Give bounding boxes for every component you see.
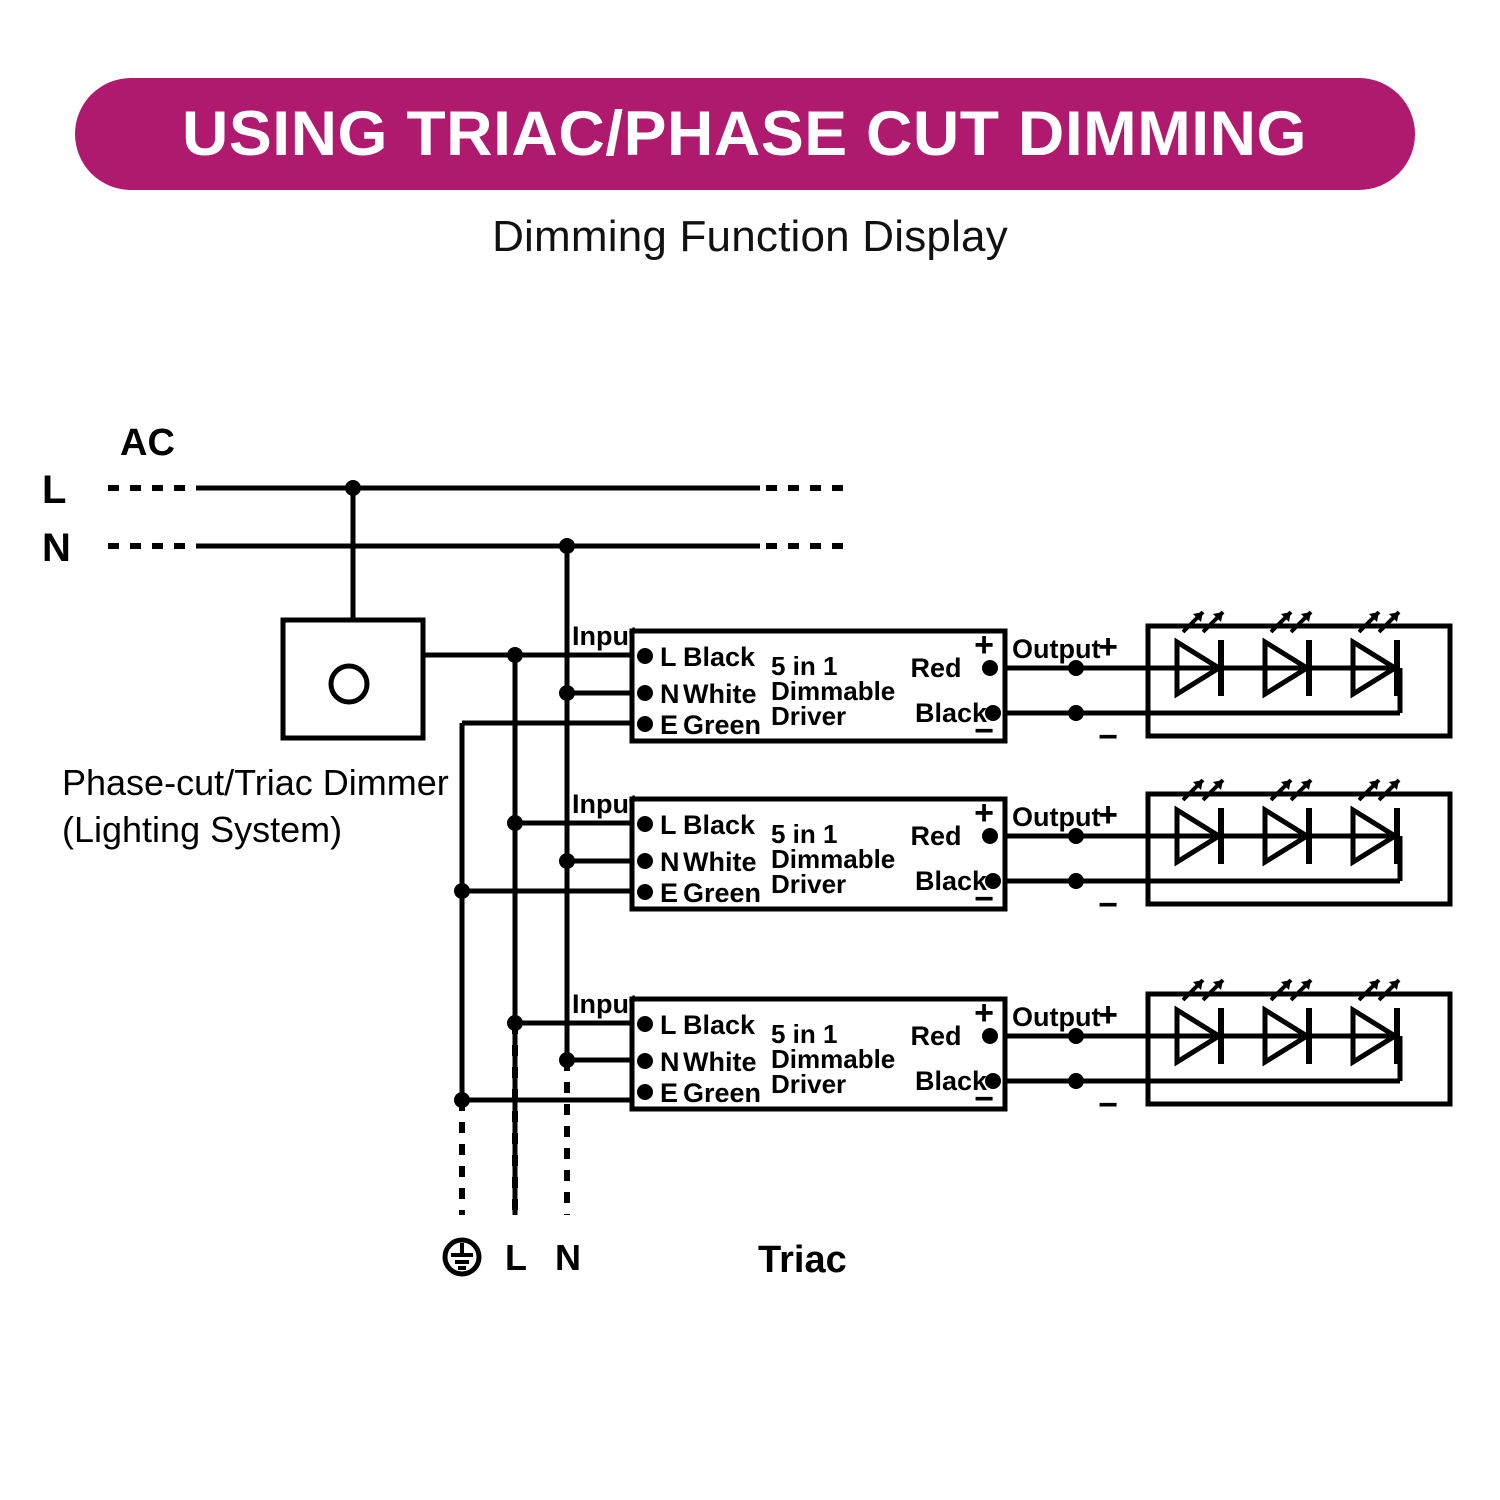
load-plus: + bbox=[1098, 628, 1118, 666]
driver-name-line3: Driver bbox=[771, 1069, 846, 1099]
driver-output-minus: − bbox=[974, 712, 994, 750]
driver-wire-red-out: Red bbox=[910, 1021, 961, 1051]
driver-output-minus: − bbox=[974, 880, 994, 918]
load-plus: + bbox=[1098, 796, 1118, 834]
input-label: Input bbox=[572, 989, 638, 1019]
driver-wire-red-out: Red bbox=[910, 653, 961, 683]
terminal-dot-n bbox=[637, 685, 653, 701]
driver-pin-l: L bbox=[660, 1010, 677, 1040]
driver-pin-e: E bbox=[660, 1078, 678, 1108]
driver-name-line3: Driver bbox=[771, 869, 846, 899]
driver-wire-white-in: White bbox=[683, 679, 757, 709]
junction-dot bbox=[1068, 1073, 1084, 1089]
driver-row: Input L Black N White E Green 5 in 1 Dim… bbox=[454, 980, 1450, 1124]
ac-label: AC bbox=[120, 422, 175, 464]
driver-row: Input L Black N White E Green 5 in 1 Dim… bbox=[454, 780, 1450, 924]
driver-wire-green-in: Green bbox=[683, 710, 761, 740]
driver-name-line3: Driver bbox=[771, 701, 846, 731]
dimmer-box[interactable] bbox=[283, 620, 423, 738]
driver-wire-black-in: Black bbox=[683, 642, 756, 672]
bottom-terminals: L N bbox=[445, 1237, 581, 1278]
load-plus: + bbox=[1098, 996, 1118, 1034]
dimmer-caption-line2: (Lighting System) bbox=[62, 809, 342, 850]
junction-dot bbox=[559, 853, 575, 869]
terminal-dot-l bbox=[637, 648, 653, 664]
wiring-diagram: AC L N Phase-cut/Triac Dimm bbox=[0, 0, 1500, 1500]
terminal-dot-e bbox=[637, 716, 653, 732]
junction-dot bbox=[559, 1052, 575, 1068]
driver-pin-n: N bbox=[660, 1047, 680, 1077]
terminal-dot-l bbox=[637, 816, 653, 832]
driver-output-plus: + bbox=[974, 626, 994, 664]
output-label: Output bbox=[1012, 1002, 1100, 1032]
load-minus: − bbox=[1098, 718, 1118, 756]
junction-dot bbox=[454, 883, 470, 899]
driver-wire-white-in: White bbox=[683, 1047, 757, 1077]
driver-output-plus: + bbox=[974, 994, 994, 1032]
driver-output-minus: − bbox=[974, 1080, 994, 1118]
terminal-dot-e bbox=[637, 1084, 653, 1100]
load-minus: − bbox=[1098, 1086, 1118, 1124]
driver-wire-black-in: Black bbox=[683, 1010, 756, 1040]
phase-cut-dimmer[interactable] bbox=[283, 620, 567, 738]
driver-pin-n: N bbox=[660, 679, 680, 709]
bus-terminal-label-l: L bbox=[505, 1237, 527, 1278]
bus-lines bbox=[462, 655, 515, 1215]
driver-row: Input L Black N White E Green 5 in 1 Dim… bbox=[462, 612, 1450, 756]
input-label: Input bbox=[572, 789, 638, 819]
driver-pin-n: N bbox=[660, 847, 680, 877]
junction-dot bbox=[1068, 705, 1084, 721]
terminal-dot-e bbox=[637, 884, 653, 900]
diagram-bottom-title: Triac bbox=[758, 1239, 847, 1281]
junction-dot bbox=[507, 815, 523, 831]
driver-wire-red-out: Red bbox=[910, 821, 961, 851]
driver-pin-e: E bbox=[660, 710, 678, 740]
input-label: Input bbox=[572, 621, 638, 651]
junction-dot bbox=[507, 1015, 523, 1031]
load-minus: − bbox=[1098, 886, 1118, 924]
dimmer-caption-line1: Phase-cut/Triac Dimmer bbox=[62, 762, 449, 803]
terminal-dot-red bbox=[982, 828, 998, 844]
driver-wire-green-in: Green bbox=[683, 878, 761, 908]
driver-wire-black-in: Black bbox=[683, 810, 756, 840]
supply-label-n: N bbox=[42, 526, 71, 570]
driver-wire-green-in: Green bbox=[683, 1078, 761, 1108]
junction-dot bbox=[1068, 873, 1084, 889]
driver-wire-white-in: White bbox=[683, 847, 757, 877]
output-label: Output bbox=[1012, 802, 1100, 832]
driver-pin-l: L bbox=[660, 810, 677, 840]
driver-output-plus: + bbox=[974, 794, 994, 832]
terminal-dot-red bbox=[982, 660, 998, 676]
bus-terminal-label-n: N bbox=[555, 1237, 581, 1278]
terminal-dot-l bbox=[637, 1016, 653, 1032]
terminal-dot-n bbox=[637, 853, 653, 869]
terminal-dot-n bbox=[637, 1053, 653, 1069]
driver-pin-l: L bbox=[660, 642, 677, 672]
output-label: Output bbox=[1012, 634, 1100, 664]
junction-dot bbox=[559, 685, 575, 701]
terminal-dot-red bbox=[982, 1028, 998, 1044]
driver-pin-e: E bbox=[660, 878, 678, 908]
supply-label-l: L bbox=[42, 468, 66, 512]
junction-dot bbox=[454, 1092, 470, 1108]
